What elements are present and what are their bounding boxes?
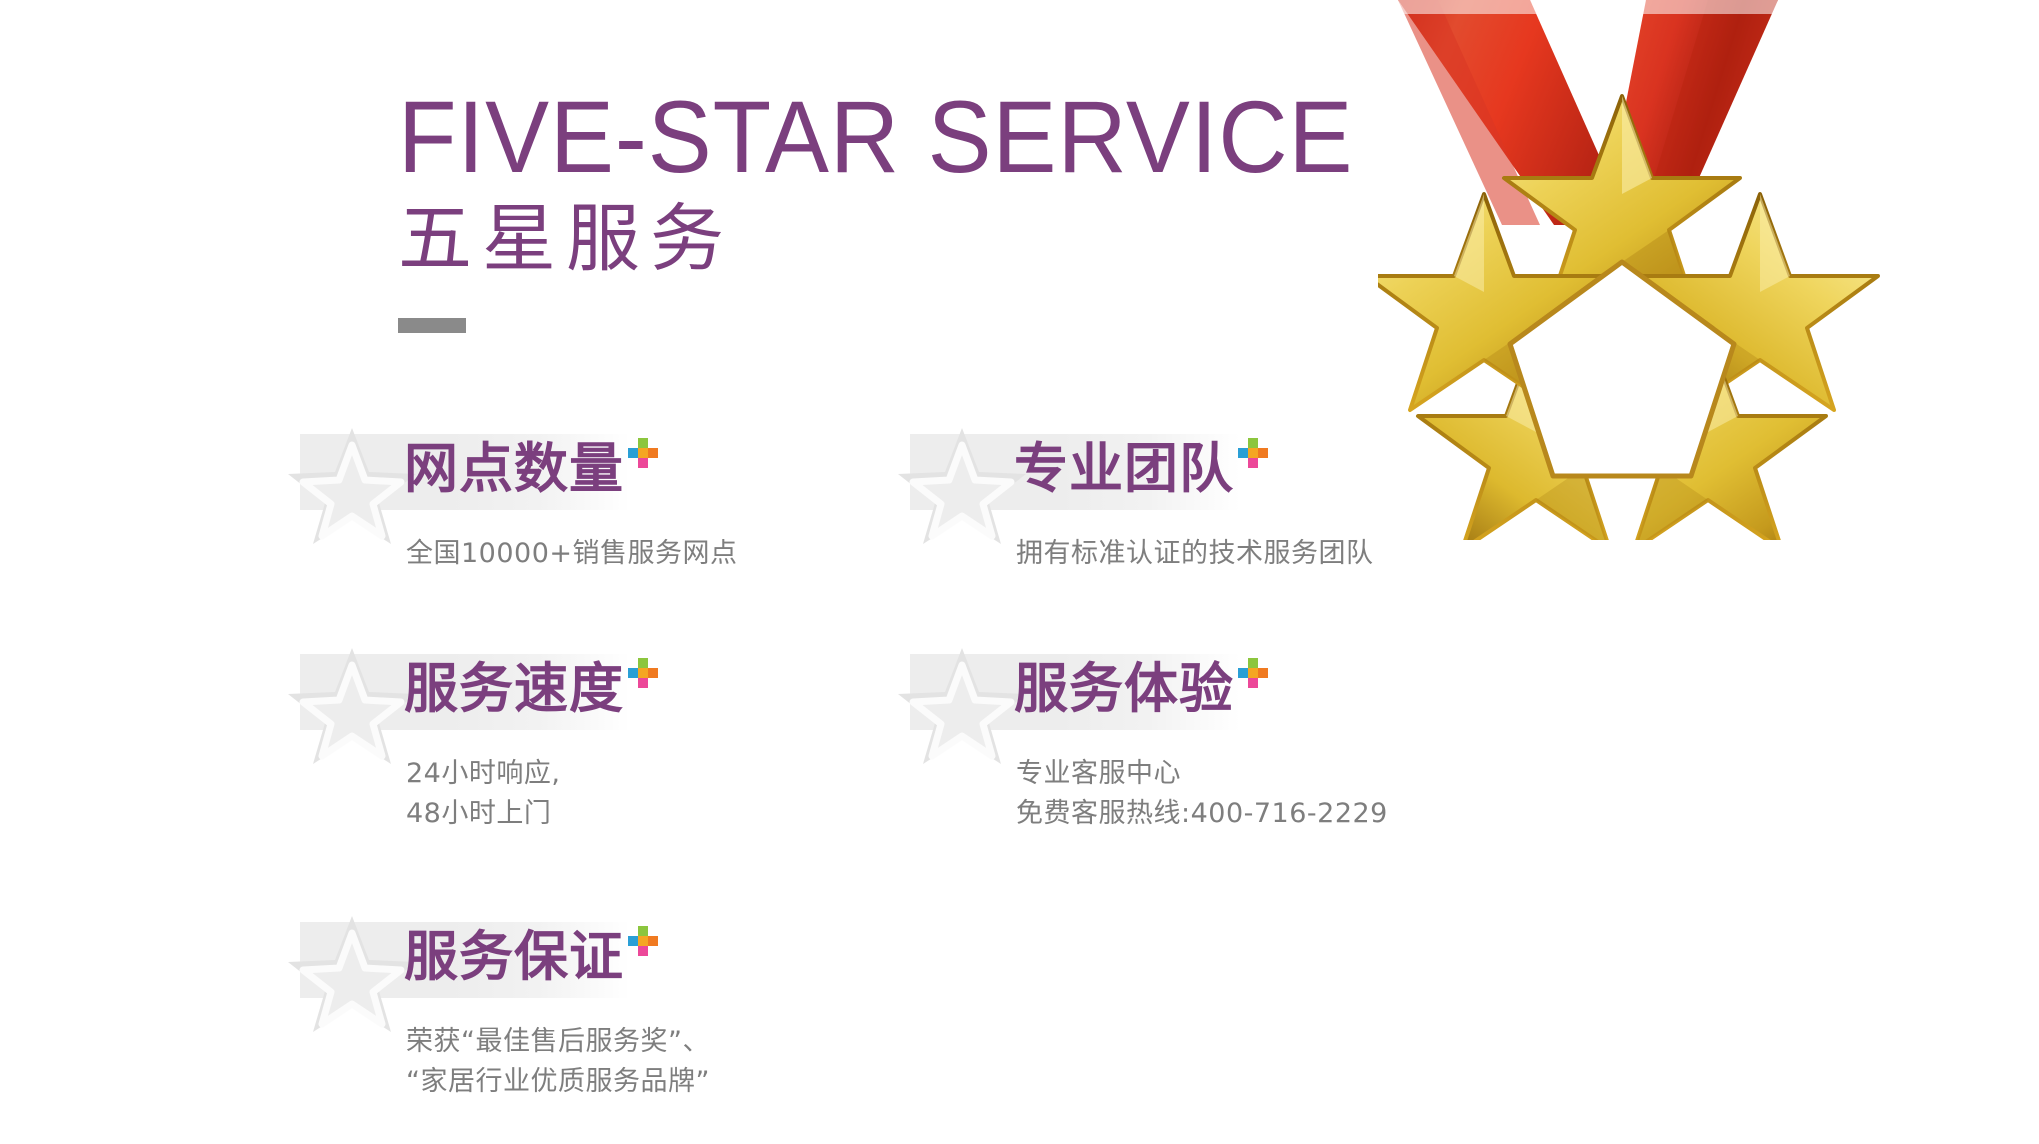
feature-head: 专业团队 xyxy=(898,420,1374,530)
feature-title-wrap: 服务保证 xyxy=(404,920,658,994)
page-title-english: FIVE-STAR SERVICE xyxy=(398,86,1338,188)
feature-head: 服务保证 xyxy=(288,908,710,1018)
feature-item-service-guarantee[interactable]: 服务保证 荣获“最佳售后服务奖”、 “家居行业优质服务品牌” xyxy=(288,908,710,1102)
feature-description: 24小时响应, 48小时上门 xyxy=(406,754,560,834)
ribbon-right-leg xyxy=(1602,0,1778,225)
feature-head: 网点数量 xyxy=(288,420,738,530)
medal-star-top xyxy=(1504,96,1740,312)
medal-star-ring xyxy=(1378,96,1878,540)
feature-title-wrap: 网点数量 xyxy=(404,432,658,506)
ribbon-top-fade xyxy=(1398,0,1778,22)
slide-canvas: FIVE-STAR SERVICE 五星服务 xyxy=(0,0,2039,1144)
star-outline-icon xyxy=(288,908,416,1032)
feature-item-service-speed[interactable]: 服务速度 24小时响应, 48小时上门 xyxy=(288,640,560,834)
ribbon-left-leg xyxy=(1398,0,1630,225)
feature-item-service-experience[interactable]: 服务体验 专业客服中心 免费客服热线:400-716-2229 xyxy=(898,640,1388,834)
headline-block: FIVE-STAR SERVICE 五星服务 xyxy=(398,86,1398,333)
feature-title: 服务速度 xyxy=(404,652,624,726)
four-color-plus-icon xyxy=(628,438,658,468)
five-star-gold-medal xyxy=(1378,0,1898,540)
four-color-plus-icon xyxy=(1238,438,1268,468)
feature-title-wrap: 服务速度 xyxy=(404,652,658,726)
medal-star-right xyxy=(1642,194,1878,410)
feature-title: 专业团队 xyxy=(1014,432,1234,506)
feature-title: 网点数量 xyxy=(404,432,624,506)
four-color-plus-icon xyxy=(628,926,658,956)
feature-item-professional-team[interactable]: 专业团队 拥有标准认证的技术服务团队 xyxy=(898,420,1374,574)
star-outline-icon xyxy=(898,420,1026,544)
feature-item-branch-count[interactable]: 网点数量 全国10000+销售服务网点 xyxy=(288,420,738,574)
feature-title: 服务体验 xyxy=(1014,652,1234,726)
four-color-plus-icon xyxy=(1238,658,1268,688)
feature-title-wrap: 服务体验 xyxy=(1014,652,1268,726)
star-outline-icon xyxy=(288,640,416,764)
feature-description: 荣获“最佳售后服务奖”、 “家居行业优质服务品牌” xyxy=(406,1022,710,1102)
page-title-chinese: 五星服务 xyxy=(398,202,1398,276)
star-outline-icon xyxy=(288,420,416,544)
star-outline-icon xyxy=(898,640,1026,764)
medal-star-bottom-right xyxy=(1590,334,1826,540)
feature-description: 专业客服中心 免费客服热线:400-716-2229 xyxy=(1016,754,1388,834)
feature-title-wrap: 专业团队 xyxy=(1014,432,1268,506)
medal-star-left xyxy=(1378,194,1602,410)
feature-head: 服务速度 xyxy=(288,640,560,750)
feature-head: 服务体验 xyxy=(898,640,1388,750)
feature-description: 拥有标准认证的技术服务团队 xyxy=(1016,534,1374,574)
feature-title: 服务保证 xyxy=(404,920,624,994)
four-color-plus-icon xyxy=(628,658,658,688)
medal-star-bottom-left xyxy=(1418,334,1654,540)
title-divider-rule xyxy=(398,318,466,333)
feature-description: 全国10000+销售服务网点 xyxy=(406,534,738,574)
medal-svg xyxy=(1378,0,1898,540)
